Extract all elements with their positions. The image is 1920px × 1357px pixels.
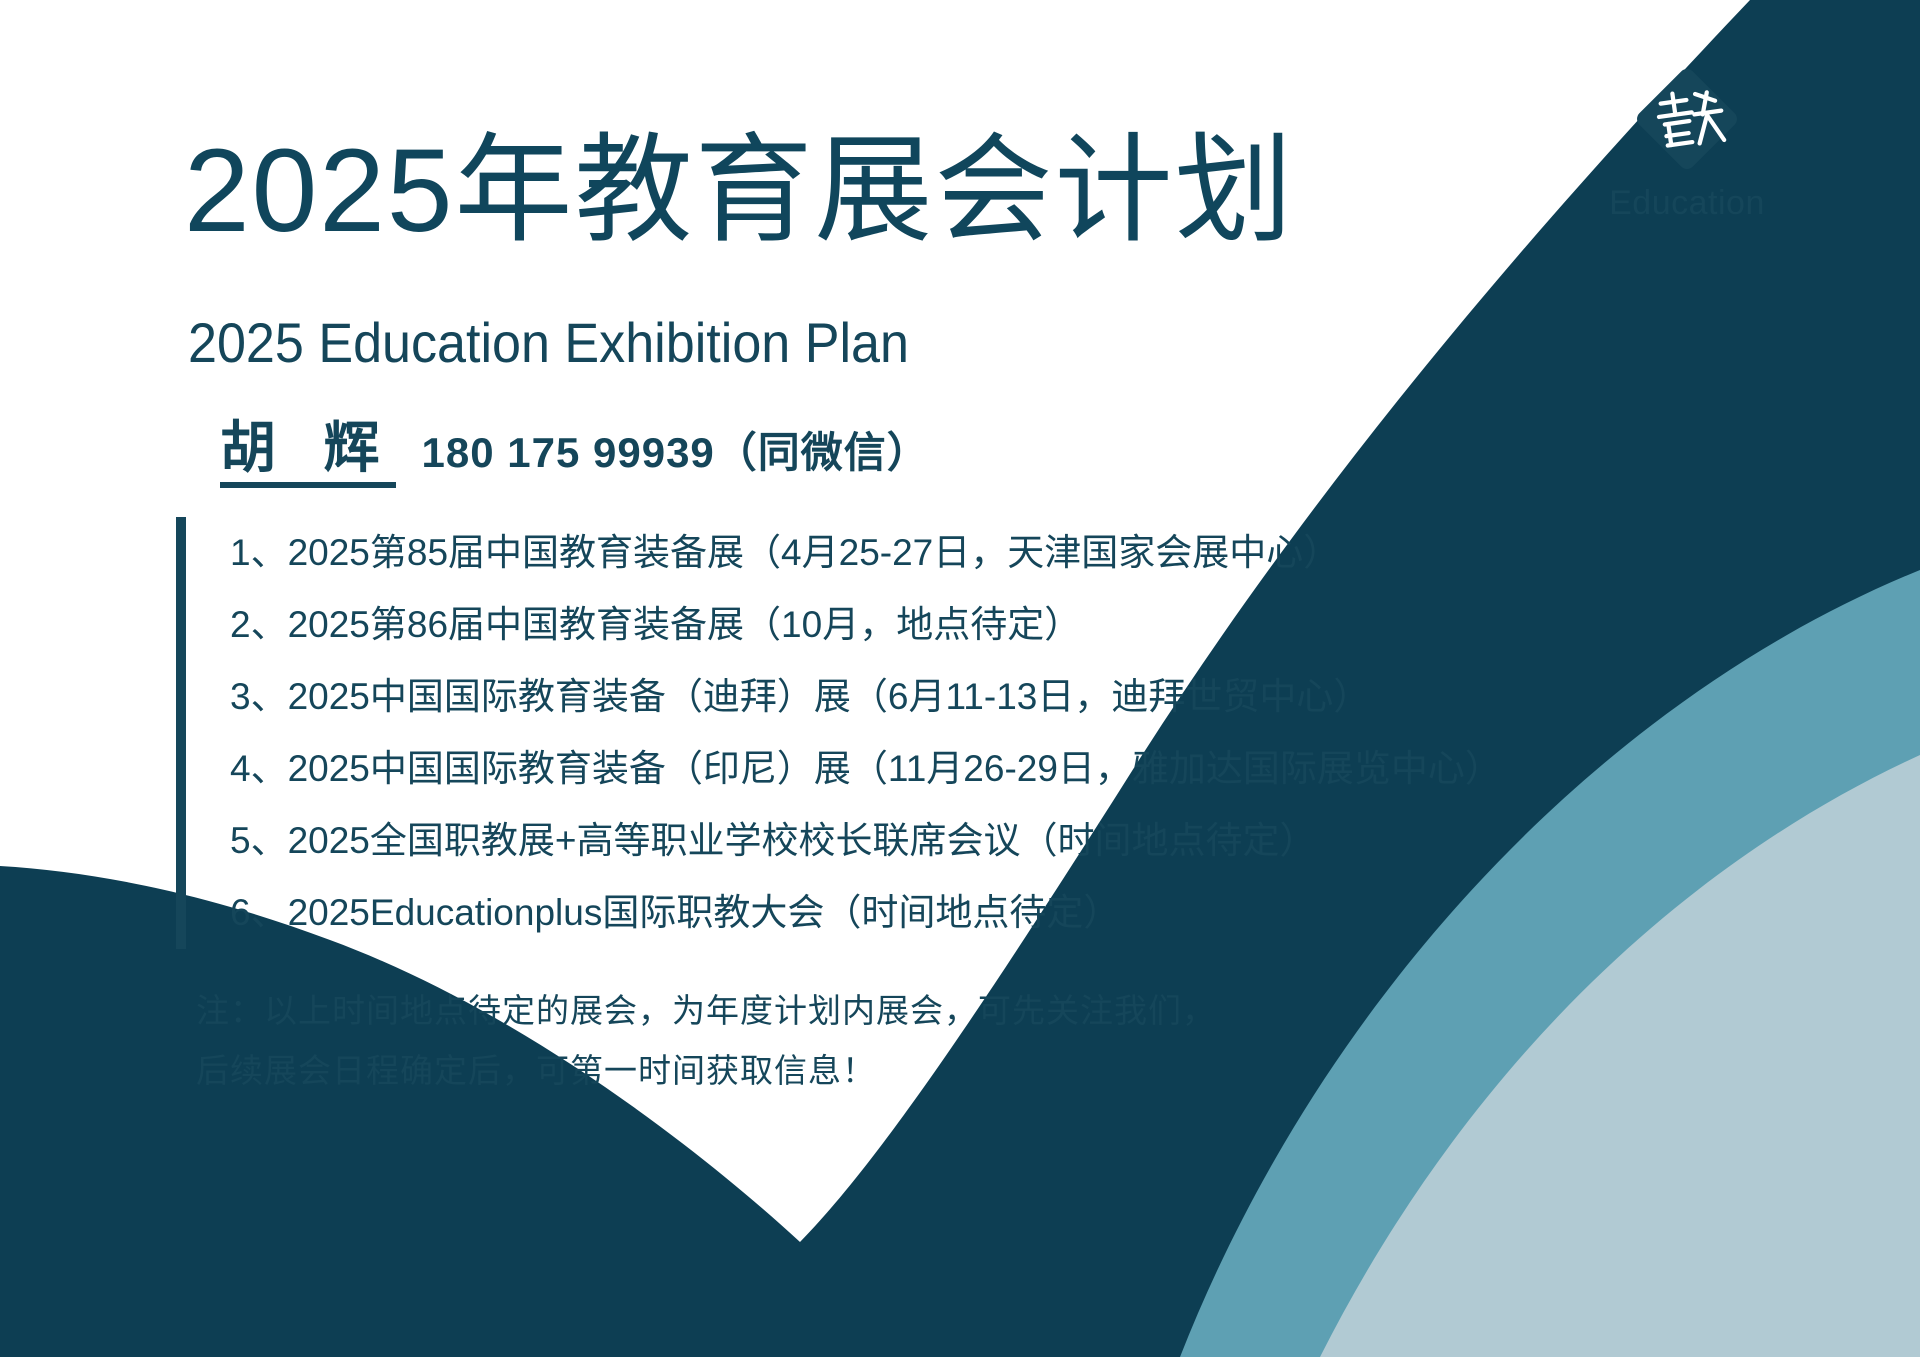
poster-canvas: Education 2025年教育展会计划 2025 Education Exh… — [0, 0, 1920, 1357]
list-item-text: 2025中国国际教育装备（迪拜）展（6月11-13日，迪拜世贸中心） — [288, 678, 1371, 715]
list-item-text: 2025中国国际教育装备（印尼）展（11月26-29日，雅加达国际展览中心） — [288, 750, 1502, 787]
list-item-index: 3、 — [230, 678, 288, 715]
list-item: 5、 2025全国职教展+高等职业学校校长联席会议（时间地点待定） — [230, 805, 1576, 877]
exhibition-list: 1、 2025第85届中国教育装备展（4月25-27日，天津国家会展中心） 2、… — [176, 517, 1576, 949]
list-item: 2、 2025第86届中国教育装备展（10月，地点待定） — [230, 589, 1576, 661]
contact-row: 胡 辉 180 175 99939（同微信） — [220, 420, 930, 488]
contact-phone: 180 175 99939（同微信） — [422, 432, 930, 488]
footer-note: 注：以上时间地点待定的展会，为年度计划内展会，可先关注我们， 后续展会日程确定后… — [196, 980, 1346, 1100]
list-item: 3、 2025中国国际教育装备（迪拜）展（6月11-13日，迪拜世贸中心） — [230, 661, 1576, 733]
note-line-2: 后续展会日程确定后，可第一时间获取信息！ — [196, 1040, 1346, 1100]
education-diamond-logo-icon — [1628, 60, 1746, 178]
list-item-index: 2、 — [230, 606, 288, 643]
note-line-1: 注：以上时间地点待定的展会，为年度计划内展会，可先关注我们， — [196, 980, 1346, 1040]
list-item-index: 5、 — [230, 822, 288, 859]
list-item-index: 4、 — [230, 750, 288, 787]
list-item-text: 2025第85届中国教育装备展（4月25-27日，天津国家会展中心） — [288, 534, 1341, 571]
list-item-index: 1、 — [230, 534, 288, 571]
brand-logo: Education — [1572, 60, 1802, 220]
list-item-text: 2025全国职教展+高等职业学校校长联席会议（时间地点待定） — [288, 822, 1317, 859]
list-item: 6、 2025Educationplus国际职教大会（时间地点待定） — [230, 877, 1576, 949]
contact-name: 胡 辉 — [220, 420, 396, 488]
logo-caption: Education — [1572, 186, 1802, 220]
list-item-text: 2025第86届中国教育装备展（10月，地点待定） — [288, 606, 1082, 643]
page-title-en: 2025 Education Exhibition Plan — [188, 312, 909, 374]
list-item: 4、 2025中国国际教育装备（印尼）展（11月26-29日，雅加达国际展览中心… — [230, 733, 1576, 805]
page-title-cn: 2025年教育展会计划 — [184, 128, 1295, 255]
list-item-index: 6、 — [230, 894, 288, 931]
list-item-text: 2025Educationplus国际职教大会（时间地点待定） — [288, 894, 1121, 931]
list-item: 1、 2025第85届中国教育装备展（4月25-27日，天津国家会展中心） — [230, 517, 1576, 589]
